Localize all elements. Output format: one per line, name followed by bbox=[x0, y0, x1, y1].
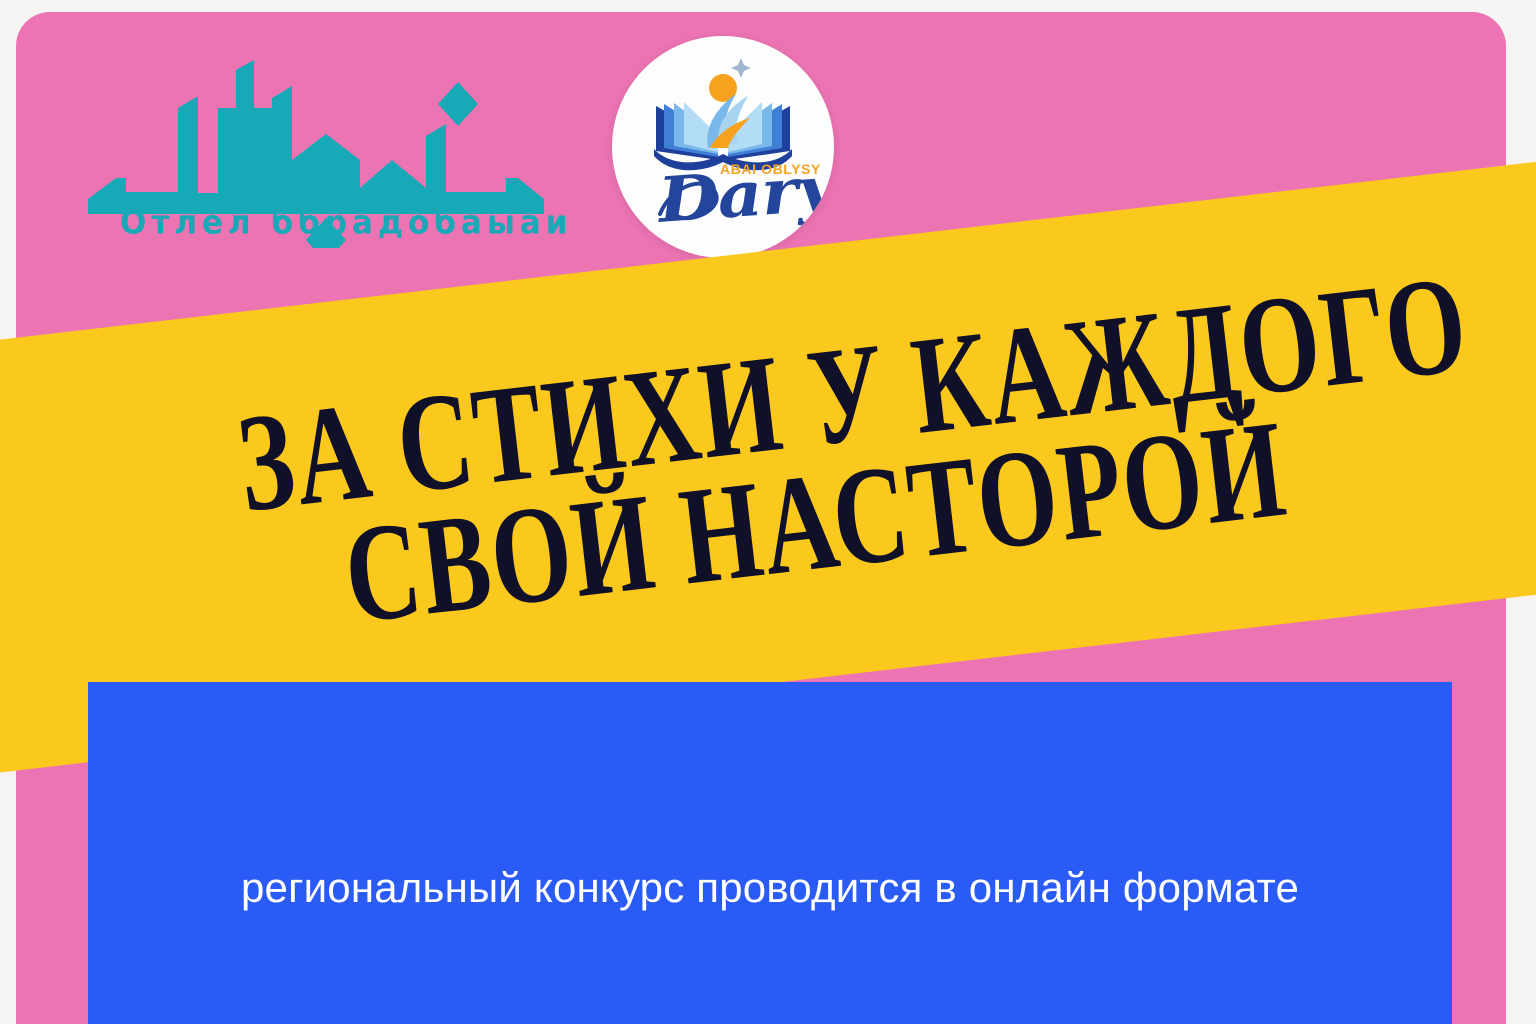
sparkle-icon bbox=[731, 58, 751, 78]
daryn-script-label: Daryn bbox=[656, 148, 834, 237]
poster-canvas: Отлел ббрадобаыаи bbox=[0, 0, 1536, 1024]
blue-info-panel: региональный конкурс проводится в онлайн… bbox=[88, 682, 1452, 1024]
abai-logo-subtitle: Отлел ббрадобаыаи bbox=[120, 204, 550, 242]
contest-format-caption: региональный конкурс проводится в онлайн… bbox=[88, 864, 1452, 912]
daryn-circular-logo: ABAI OBLYSY Daryn bbox=[612, 36, 834, 258]
